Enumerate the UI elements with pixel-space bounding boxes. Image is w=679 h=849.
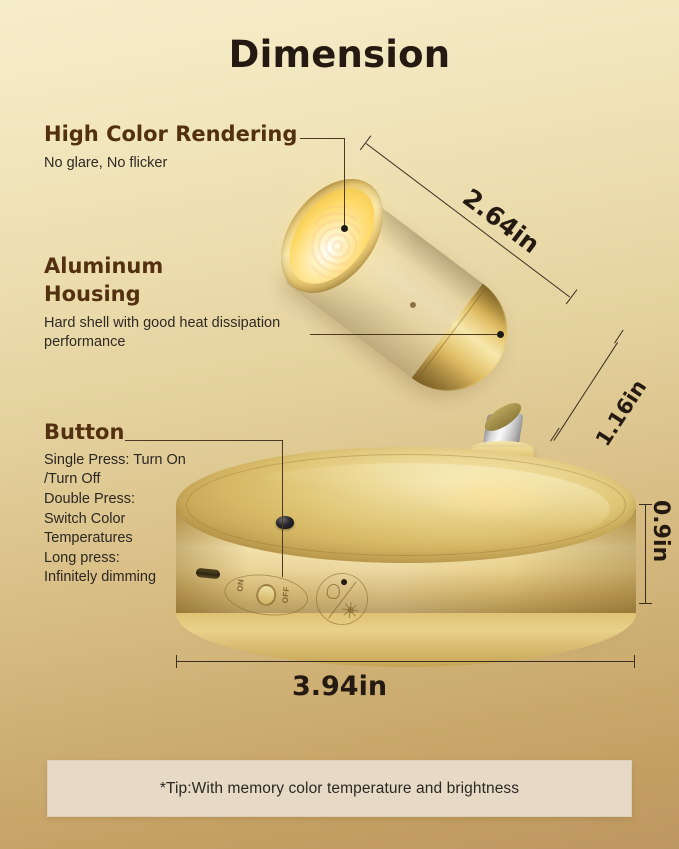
- base-top-face: [176, 447, 636, 563]
- bulb-icon: [326, 583, 341, 599]
- switch-on-label: ON: [236, 579, 246, 592]
- annotation-heading: High Color Rendering: [44, 121, 297, 149]
- annotation-heading: Aluminum Housing: [44, 253, 280, 309]
- dimension-tick-height-bottom: [639, 603, 652, 604]
- dimension-label-base-diameter: 3.94in: [0, 671, 679, 702]
- annotation-body: Hard shell with good heat dissipation pe…: [44, 314, 280, 352]
- base-top-highlight: [202, 463, 610, 555]
- dimension-tick-head-end: [614, 330, 624, 344]
- tip-banner: *Tip:With memory color temperature and b…: [47, 760, 632, 817]
- leader-line-aluminum-housing: [310, 334, 500, 335]
- physical-push-button[interactable]: [276, 516, 294, 529]
- page-title: Dimension: [0, 33, 679, 76]
- dimension-tick-diameter-right: [634, 655, 635, 668]
- infographic-canvas: Dimension: [0, 0, 679, 849]
- annotation-high-color-rendering: High Color Rendering No glare, No flicke…: [44, 121, 297, 173]
- dimension-tick-diameter-left: [176, 655, 177, 668]
- spotlight-head: [296, 150, 596, 450]
- annotation-body: Single Press: Turn On /Turn Off Double P…: [44, 451, 186, 588]
- button-leader-dot: [341, 579, 348, 586]
- tip-text: *Tip:With memory color temperature and b…: [160, 780, 519, 798]
- annotation-button: Button Single Press: Turn On /Turn Off D…: [44, 419, 186, 588]
- annotation-heading: Button: [44, 419, 186, 447]
- lens-reflector-texture: [300, 198, 367, 284]
- leader-line-button-drop: [282, 440, 283, 577]
- dimension-label-head-diameter: 1.16in: [591, 375, 651, 450]
- leader-line-high-color-rendering-drop: [344, 138, 345, 228]
- dimension-line-base-height: [645, 504, 646, 604]
- lamp-base: ON OFF: [176, 447, 636, 662]
- switch-off-label: OFF: [281, 586, 291, 604]
- leader-dot-lens: [341, 225, 348, 232]
- dimension-tick-length-start: [360, 135, 372, 150]
- dimension-line-base-diameter: [176, 661, 635, 662]
- leader-dot-barrel: [497, 331, 504, 338]
- annotation-body: No glare, No flicker: [44, 154, 297, 173]
- leader-line-high-color-rendering: [300, 138, 344, 139]
- dimension-label-base-height: 0.9in: [648, 500, 673, 562]
- brightness-sun-icon: [343, 602, 359, 618]
- annotation-aluminum-housing: Aluminum Housing Hard shell with good he…: [44, 253, 280, 352]
- base-stem-glow: [426, 467, 556, 523]
